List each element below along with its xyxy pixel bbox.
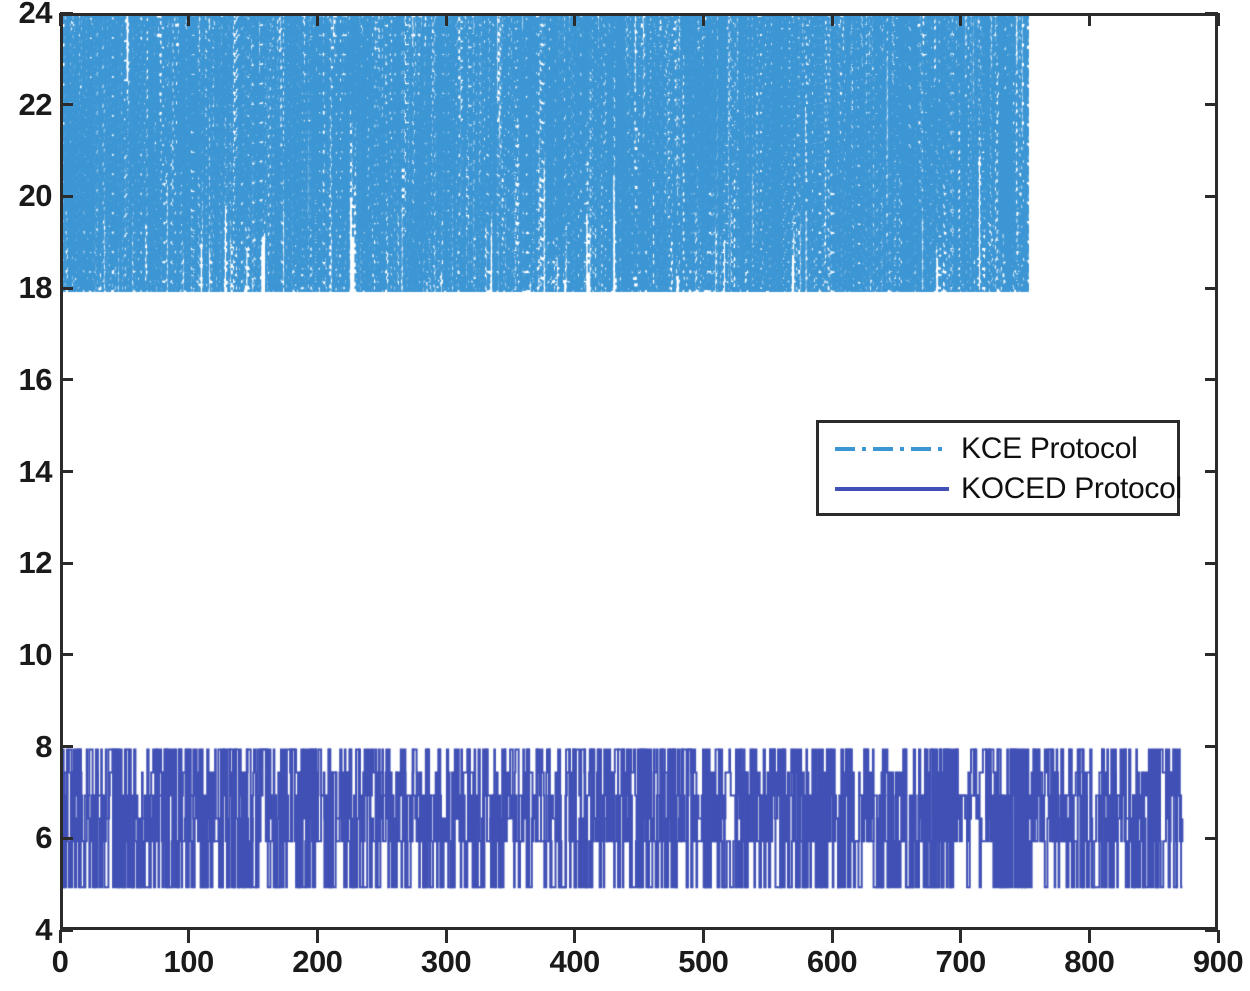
y-tick-mark: [60, 562, 73, 565]
y-tick-label: 18: [19, 272, 52, 303]
x-tick-label: 600: [772, 946, 892, 977]
y-tick-mark: [1205, 195, 1218, 198]
x-tick-label: 400: [515, 946, 635, 977]
y-tick-label: 4: [35, 914, 52, 945]
y-tick-label: 10: [19, 639, 52, 670]
x-tick-mark: [59, 930, 62, 943]
y-tick-mark: [60, 103, 73, 106]
x-tick-mark: [316, 930, 319, 943]
x-tick-mark: [959, 13, 962, 26]
y-tick-label: 14: [19, 456, 52, 487]
x-tick-mark: [573, 930, 576, 943]
x-tick-mark: [445, 13, 448, 26]
x-tick-label: 300: [386, 946, 506, 977]
x-tick-mark: [1217, 930, 1220, 943]
y-tick-mark: [1205, 378, 1218, 381]
x-tick-mark: [702, 930, 705, 943]
x-tick-label: 0: [0, 946, 120, 977]
y-tick-mark: [1205, 287, 1218, 290]
y-tick-mark: [60, 745, 73, 748]
y-tick-mark: [60, 653, 73, 656]
y-tick-mark: [60, 378, 73, 381]
x-tick-label: 700: [901, 946, 1021, 977]
y-tick-mark: [1205, 837, 1218, 840]
y-tick-label: 6: [35, 822, 52, 853]
y-tick-mark: [1205, 470, 1218, 473]
y-tick-label: 20: [19, 180, 52, 211]
y-tick-mark: [1205, 103, 1218, 106]
y-tick-label: 12: [19, 547, 52, 578]
chart-figure: 4681012141618202224 01002003004005006007…: [0, 0, 1250, 991]
x-tick-mark: [445, 930, 448, 943]
legend-label-kce: KCE Protocol: [961, 434, 1137, 464]
y-tick-label: 8: [35, 731, 52, 762]
legend-line-solid-icon: [833, 479, 951, 499]
x-tick-mark: [831, 930, 834, 943]
x-tick-mark: [316, 13, 319, 26]
legend-item-kce: KCE Protocol: [819, 429, 1177, 469]
y-tick-mark: [60, 195, 73, 198]
legend-label-koced: KOCED Protocol: [961, 474, 1182, 504]
legend-item-koced: KOCED Protocol: [819, 469, 1177, 509]
y-tick-mark: [60, 837, 73, 840]
x-tick-mark: [1088, 13, 1091, 26]
x-tick-mark: [702, 13, 705, 26]
x-tick-mark: [959, 930, 962, 943]
x-tick-label: 500: [643, 946, 763, 977]
x-tick-label: 200: [257, 946, 377, 977]
y-tick-mark: [60, 470, 73, 473]
x-tick-mark: [59, 13, 62, 26]
x-tick-mark: [573, 13, 576, 26]
y-tick-mark: [60, 12, 73, 15]
y-tick-mark: [1205, 745, 1218, 748]
x-tick-mark: [187, 13, 190, 26]
y-tick-label: 22: [19, 89, 52, 120]
x-tick-label: 100: [129, 946, 249, 977]
x-tick-mark: [187, 930, 190, 943]
x-tick-mark: [831, 13, 834, 26]
y-tick-mark: [1205, 562, 1218, 565]
y-tick-mark: [1205, 653, 1218, 656]
y-tick-label: 16: [19, 364, 52, 395]
y-tick-label: 24: [19, 0, 52, 28]
x-tick-mark: [1088, 930, 1091, 943]
y-tick-mark: [60, 287, 73, 290]
legend-line-dashdot-icon: [833, 439, 951, 459]
x-tick-label: 900: [1158, 946, 1250, 977]
x-tick-mark: [1217, 13, 1220, 26]
y-tick-mark: [60, 929, 73, 932]
x-tick-label: 800: [1029, 946, 1149, 977]
chart-legend: KCE Protocol KOCED Protocol: [816, 420, 1180, 516]
